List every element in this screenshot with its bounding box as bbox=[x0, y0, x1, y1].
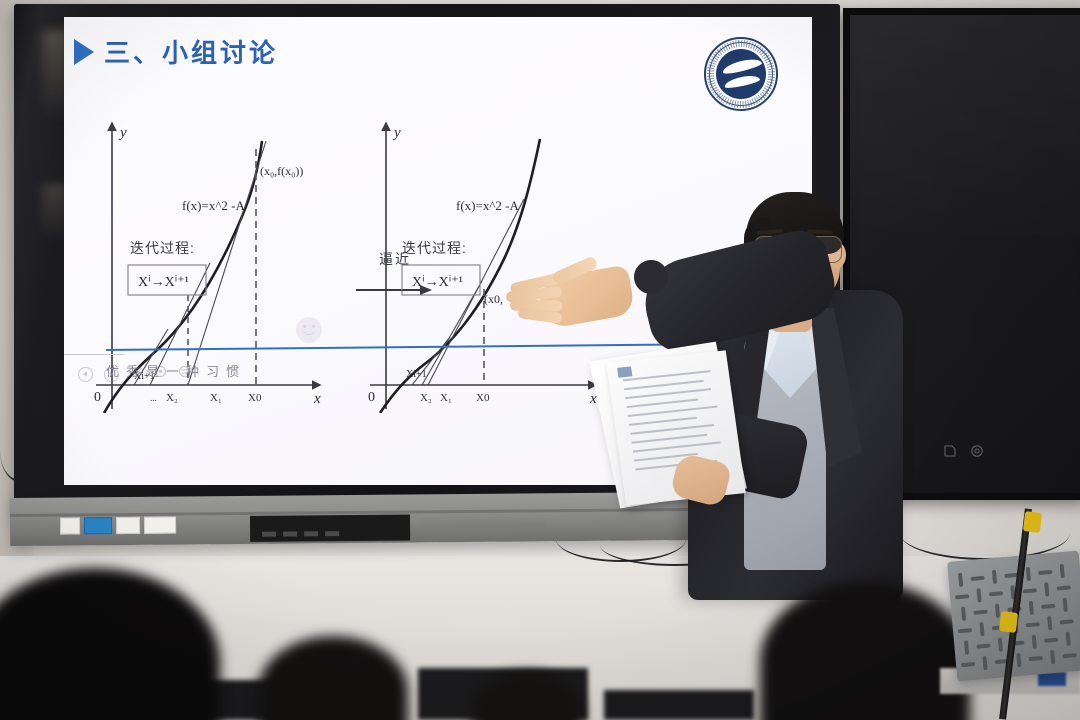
stand-perforation bbox=[1044, 638, 1058, 643]
stand-perforation bbox=[1063, 598, 1068, 612]
emblem-core bbox=[716, 49, 766, 99]
stand-perforation bbox=[976, 644, 990, 649]
power-icon[interactable] bbox=[970, 444, 984, 458]
instructor-hand-pointing bbox=[516, 258, 646, 332]
stand-perforation bbox=[958, 573, 963, 587]
stand-perforation bbox=[1066, 632, 1071, 646]
svg-text:0: 0 bbox=[94, 390, 101, 405]
svg-text:...: ... bbox=[150, 393, 157, 403]
handout-header-mark bbox=[617, 366, 632, 377]
footer-grey-rule bbox=[64, 354, 124, 355]
stand-perforation bbox=[1041, 604, 1055, 609]
svg-text:0: 0 bbox=[368, 390, 375, 405]
stand-perforation bbox=[1060, 619, 1074, 624]
svg-text:(x₀,f(x₀)): (x₀,f(x₀)) bbox=[260, 164, 303, 178]
svg-text:X₂: X₂ bbox=[166, 392, 178, 404]
stand-perforation bbox=[961, 662, 975, 667]
svg-text:y: y bbox=[118, 125, 127, 141]
stand-perforation bbox=[1057, 585, 1071, 590]
stand-perforation bbox=[976, 588, 981, 602]
classroom-scene: 三、小组讨论 bbox=[0, 0, 1080, 720]
stand-perforation bbox=[973, 610, 987, 615]
stand-perforation bbox=[1032, 635, 1037, 649]
stand-perforation bbox=[1038, 570, 1052, 575]
svg-text:X₁: X₁ bbox=[210, 392, 222, 404]
pole-marker-upper bbox=[1023, 511, 1042, 533]
svg-text:y: y bbox=[392, 125, 401, 141]
svg-text:(x0,: (x0, bbox=[484, 292, 503, 306]
stand-perforation bbox=[1047, 616, 1052, 630]
monitor-top-3 bbox=[604, 690, 754, 720]
svg-text:f(x)=x^2 -A: f(x)=x^2 -A bbox=[182, 198, 245, 213]
stand-perforation bbox=[1029, 656, 1043, 661]
svg-text:f(x)=x^2 -A: f(x)=x^2 -A bbox=[456, 198, 519, 213]
stand-perforation bbox=[1026, 567, 1031, 581]
slide-watermark bbox=[296, 317, 322, 343]
stand-perforation bbox=[961, 607, 966, 621]
chassis-label-strip bbox=[60, 517, 176, 535]
slide-heading: 三、小组讨论 bbox=[74, 33, 278, 70]
svg-text:Xi+1: Xi+1 bbox=[406, 369, 427, 380]
chassis-port-panel[interactable] bbox=[250, 515, 410, 542]
svg-text:X₁: X₁ bbox=[440, 392, 452, 404]
menu-icon[interactable] bbox=[178, 365, 191, 383]
svg-text:X0: X0 bbox=[476, 392, 490, 404]
svg-text:迭代过程:: 迭代过程: bbox=[130, 240, 195, 256]
stand-perforation bbox=[1050, 650, 1055, 664]
triangle-right-icon bbox=[74, 39, 94, 65]
pole-marker-lower bbox=[999, 611, 1018, 633]
svg-text:X0: X0 bbox=[248, 392, 262, 404]
instructor bbox=[612, 180, 962, 600]
slideshow-toolbar[interactable] bbox=[78, 365, 191, 383]
stand-perforation bbox=[1044, 582, 1049, 596]
stand-perforation bbox=[970, 576, 984, 581]
chassis-speaker-grill bbox=[420, 513, 545, 528]
svg-text:x: x bbox=[313, 391, 321, 407]
cursor-icon[interactable] bbox=[154, 365, 167, 383]
previous-slide-button[interactable] bbox=[78, 367, 93, 382]
page-title: 三、小组讨论 bbox=[104, 33, 278, 70]
stand-perforation bbox=[1029, 601, 1034, 615]
svg-text:迭代过程:: 迭代过程: bbox=[402, 240, 467, 256]
school-emblem bbox=[704, 37, 778, 111]
stand-perforation bbox=[955, 594, 969, 599]
pen-icon[interactable] bbox=[130, 365, 143, 383]
svg-text:X₂: X₂ bbox=[420, 392, 432, 404]
chassis-ports[interactable] bbox=[262, 531, 339, 537]
stand-perforation bbox=[995, 604, 1000, 618]
stand-perforation bbox=[989, 591, 1003, 596]
stand-perforation bbox=[998, 637, 1003, 651]
stand-perforation bbox=[1026, 622, 1040, 627]
stand-perforation bbox=[964, 640, 969, 654]
stand-perforation bbox=[958, 628, 972, 633]
svg-text:Xⁱ→Xⁱ⁺¹: Xⁱ→Xⁱ⁺¹ bbox=[412, 275, 463, 290]
stand-perforation bbox=[979, 622, 984, 636]
stand-perforation bbox=[992, 570, 997, 584]
stand-perforation bbox=[1016, 653, 1021, 667]
stand-perforation bbox=[1063, 653, 1077, 658]
svg-text:Xⁱ→Xⁱ⁺¹: Xⁱ→Xⁱ⁺¹ bbox=[138, 275, 189, 290]
stand-perforation bbox=[1023, 588, 1037, 593]
stand-perforation bbox=[982, 656, 987, 670]
next-slide-button[interactable] bbox=[104, 367, 119, 382]
stand-perforation bbox=[1060, 564, 1065, 578]
